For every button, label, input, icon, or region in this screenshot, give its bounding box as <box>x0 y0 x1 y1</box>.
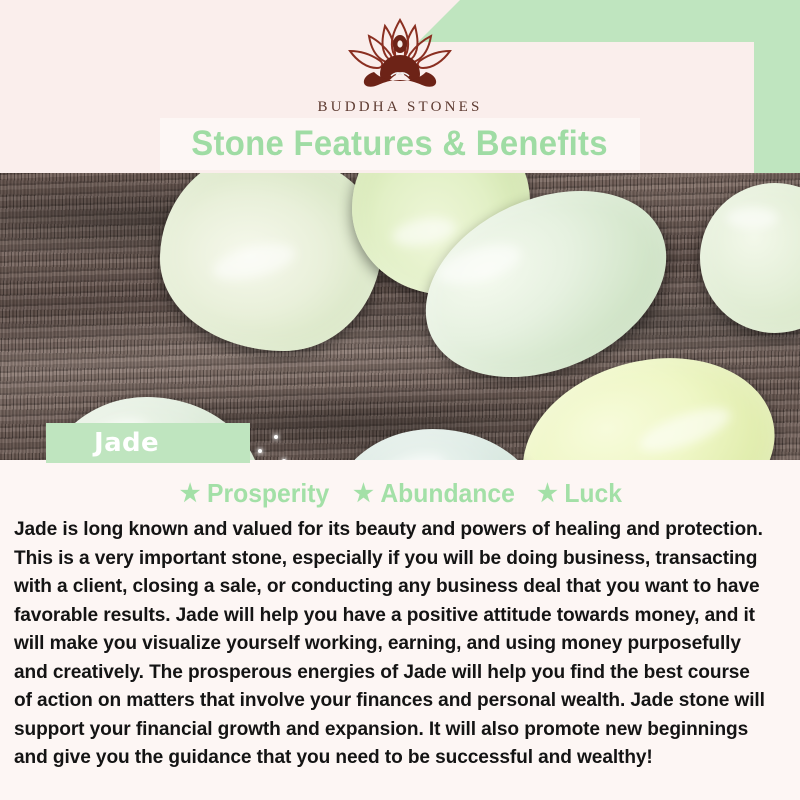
star-icon: ★ <box>180 482 200 506</box>
brand-wordmark: BUDDHA STONES <box>0 99 800 116</box>
brand-logo: BUDDHA STONES <box>0 14 800 116</box>
benefit-label: Prosperity <box>207 478 329 509</box>
benefit-label: Luck <box>564 478 622 509</box>
sparkle-highlight <box>258 449 262 453</box>
title-banner: Stone Features & Benefits <box>160 118 640 170</box>
stone-name-text: Jade <box>94 428 159 458</box>
lotus-meditation-icon <box>0 14 800 97</box>
content-panel: ★ Prosperity ★ Abundance ★ Luck Jade is … <box>0 460 800 800</box>
benefit-item: ★ Prosperity <box>180 478 329 509</box>
infographic-card: BUDDHA STONES Stone Features & Benefits … <box>0 0 800 800</box>
benefit-item: ★ Abundance <box>353 478 515 509</box>
star-icon: ★ <box>537 482 557 506</box>
benefit-label: Abundance <box>380 478 514 509</box>
benefit-item: ★ Luck <box>537 478 622 509</box>
star-icon: ★ <box>353 482 373 506</box>
page-title: Stone Features & Benefits <box>192 124 609 164</box>
benefits-row: ★ Prosperity ★ Abundance ★ Luck <box>0 460 800 509</box>
stone-photo <box>0 173 800 460</box>
body-description: Jade is long known and valued for its be… <box>14 515 767 772</box>
stone-name-label: Jade <box>46 423 250 463</box>
sparkle-highlight <box>274 435 278 439</box>
